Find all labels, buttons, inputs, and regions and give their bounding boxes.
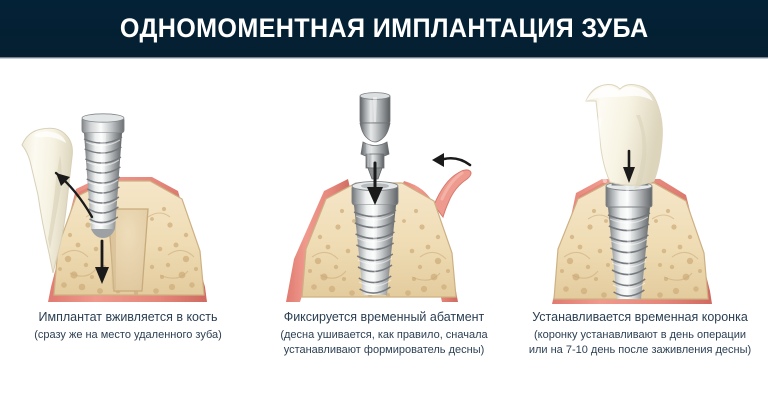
caption-step-2-sub-line-2: устанавливают формирователь десны) [256, 343, 512, 358]
caption-step-3-title: Устанавливается временная коронка [512, 309, 768, 326]
panel-implant-placed-in-bone [0, 59, 256, 309]
caption-step-1-title: Имплантат вживляется в кость [0, 309, 256, 326]
panel-1-illustration [0, 59, 256, 309]
temporary-crown [586, 85, 662, 190]
caption-step-3-sub-line-2: или на 7-10 день после заживления десны) [512, 343, 768, 358]
panel-3-illustration [512, 59, 768, 309]
caption-step-2-sub: (десна ушивается, как правило, сначала у… [256, 328, 512, 357]
curved-arrow-gum-flap [432, 153, 470, 167]
illustration-panels [0, 59, 768, 309]
caption-step-2-sub-line-1: (десна ушивается, как правило, сначала [256, 328, 512, 343]
caption-step-1: Имплантат вживляется в кость (сразу же н… [0, 309, 256, 343]
panel-temporary-abutment-fixed [256, 59, 512, 309]
panel-temporary-crown-installed [512, 59, 768, 309]
caption-step-3-sub: (коронку устанавливают в день операции и… [512, 328, 768, 357]
captions-row: Имплантат вживляется в кость (сразу же н… [0, 309, 768, 379]
caption-step-3-sub-line-1: (коронку устанавливают в день операции [512, 328, 768, 343]
caption-step-1-sub: (сразу же на место удаленного зуба) [0, 328, 256, 343]
panel-2-illustration [256, 59, 512, 309]
caption-step-2-title: Фиксируется временный абатмент [256, 309, 512, 326]
header-bar: ОДНОМОМЕНТНАЯ ИМПЛАНТАЦИЯ ЗУБА [0, 0, 768, 57]
caption-step-2: Фиксируется временный абатмент (десна уш… [256, 309, 512, 357]
page-title: ОДНОМОМЕНТНАЯ ИМПЛАНТАЦИЯ ЗУБА [120, 13, 649, 44]
caption-step-1-sub-line-1: (сразу же на место удаленного зуба) [0, 328, 256, 343]
caption-step-3: Устанавливается временная коронка (корон… [512, 309, 768, 357]
